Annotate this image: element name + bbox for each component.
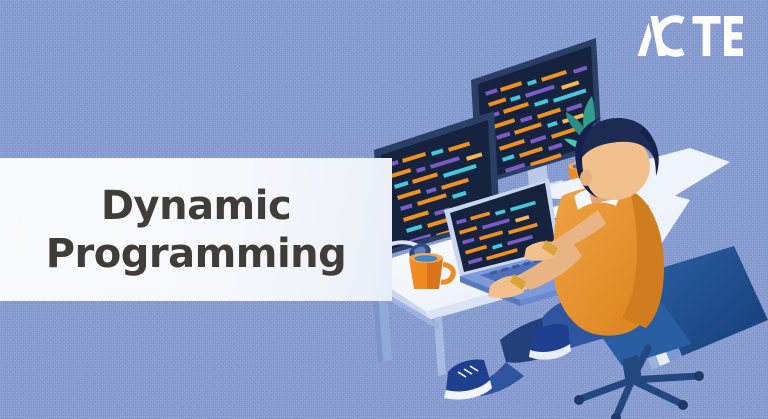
banner-root: Dynamic Programming <box>0 0 768 419</box>
page-title: Dynamic Programming <box>0 158 392 301</box>
page-title-line-2: Programming <box>46 234 347 274</box>
developer-at-desk-illustration <box>330 0 768 419</box>
acte-logo-wordmark <box>638 15 743 57</box>
acte-logo[interactable] <box>636 14 744 58</box>
page-title-line-1: Dynamic <box>101 186 291 226</box>
